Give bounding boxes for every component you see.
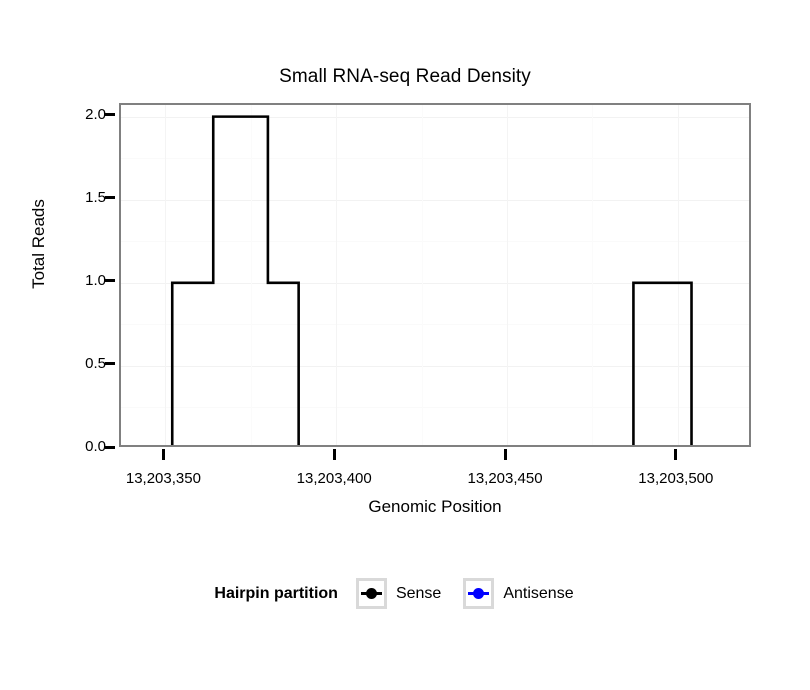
legend-label: Antisense [503,585,573,603]
y-tick-label: 1.5 [62,189,106,206]
legend-entries: SenseAntisense [356,578,596,609]
legend-title: Hairpin partition [214,585,338,603]
y-tick-mark [105,362,115,365]
chart-figure: Small RNA-seq Read Density Total Reads 0… [0,0,810,690]
series-line-sense [121,117,749,445]
legend-point-icon [473,588,484,599]
legend-entry-antisense[interactable]: Antisense [463,578,595,609]
y-tick-mark [105,196,115,199]
y-tick-label: 0.5 [62,355,106,372]
x-axis-title: Genomic Position [119,497,751,517]
y-tick: 0.5 [46,355,106,373]
x-tick-mark [504,449,507,460]
legend-label: Sense [396,585,441,603]
series-layer [121,105,749,445]
x-tick-mark [333,449,336,460]
plot-area [121,105,749,445]
legend-point-icon [366,588,377,599]
chart-title: Small RNA-seq Read Density [0,66,810,88]
y-tick: 1.5 [46,189,106,207]
x-tick-mark [674,449,677,460]
x-tick-label: 13,203,350 [83,470,243,487]
legend-key-swatch [356,578,387,609]
plot-panel [119,103,751,447]
legend-entry-sense[interactable]: Sense [356,578,463,609]
x-tick-label: 13,203,400 [254,470,414,487]
y-tick-mark [105,279,115,282]
y-tick-label: 2.0 [62,106,106,123]
x-tick-mark [162,449,165,460]
y-tick-label: 0.0 [62,438,106,455]
x-tick-label: 13,203,450 [425,470,585,487]
y-tick-mark [105,113,115,116]
x-tick-label: 13,203,500 [596,470,756,487]
y-tick: 2.0 [46,106,106,124]
y-tick: 0.0 [46,438,106,456]
y-tick: 1.0 [46,272,106,290]
legend: Hairpin partition SenseAntisense [0,578,810,609]
legend-key-swatch [463,578,494,609]
y-tick-mark [105,446,115,449]
y-tick-label: 1.0 [62,272,106,289]
